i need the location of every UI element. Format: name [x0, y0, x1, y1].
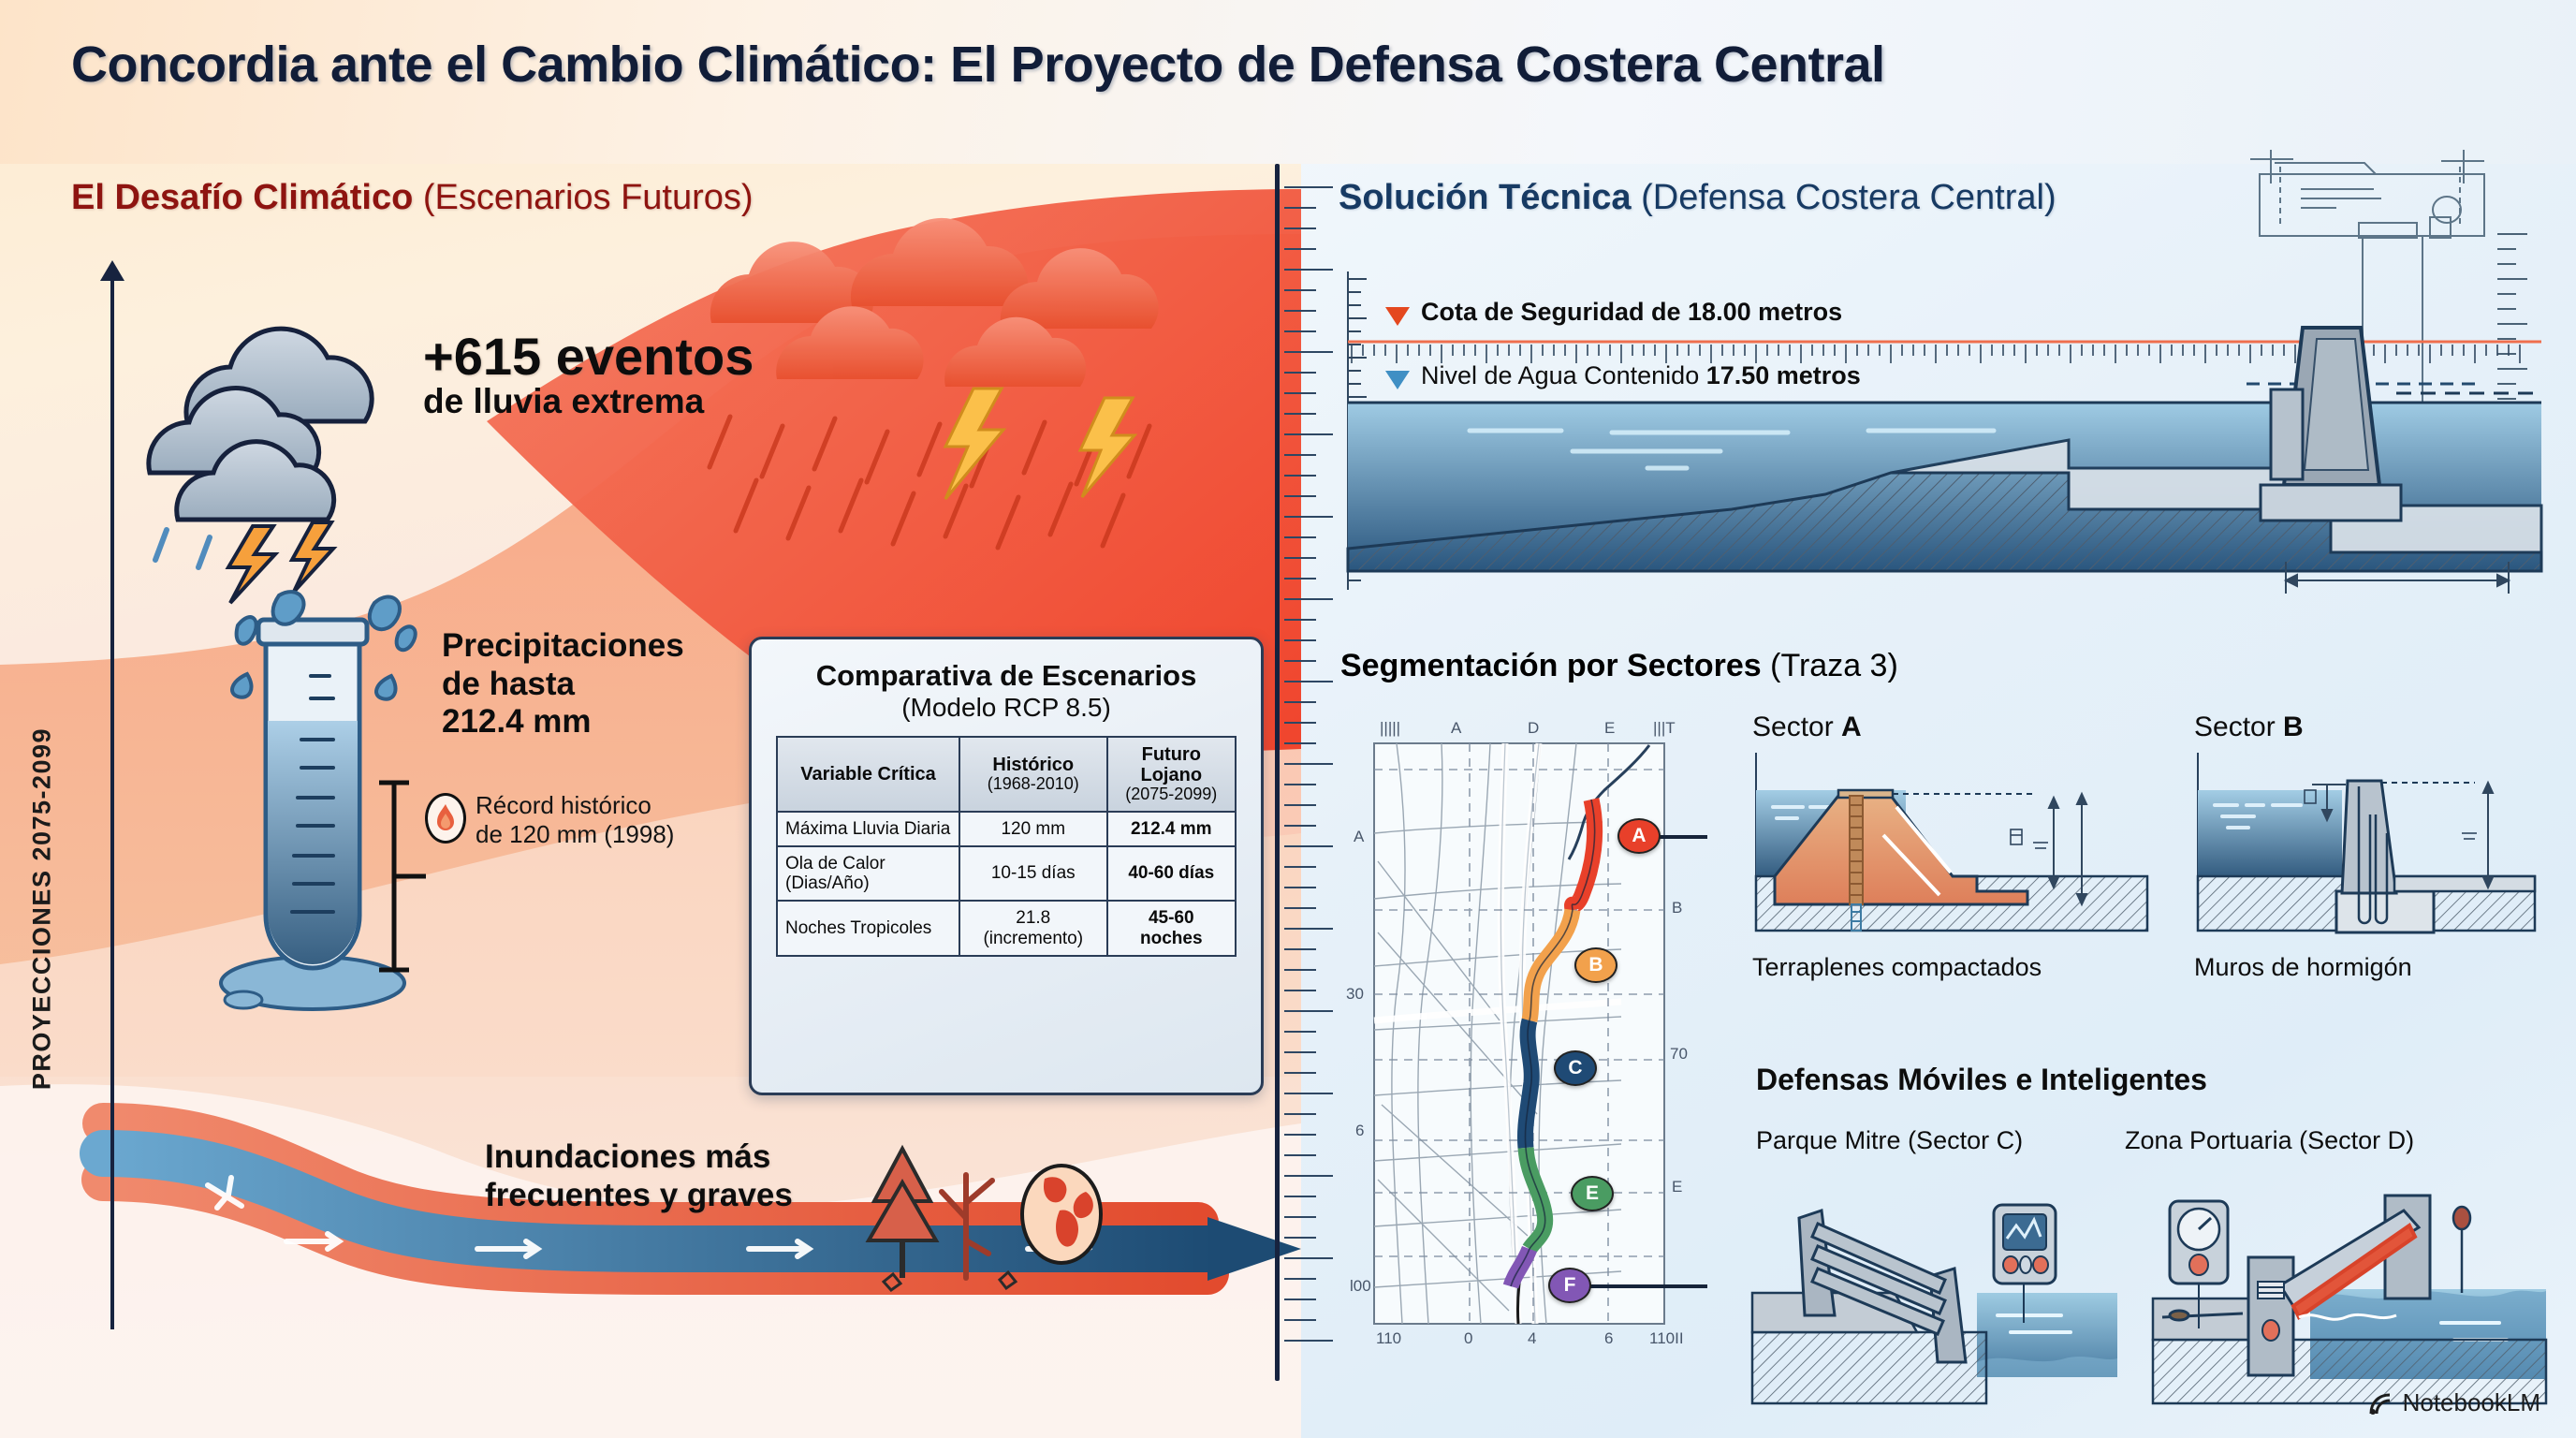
scenario-table: Variable Crítica Histórico (1968-2010) F…	[776, 736, 1237, 957]
card-title: Comparativa de Escenarios	[776, 660, 1237, 693]
sector-map-art	[1340, 712, 1698, 1357]
map-tick-right-2: E	[1672, 1178, 1682, 1196]
right-heading-normal: (Defensa Costera Central)	[1641, 178, 2056, 217]
panel-divider	[1275, 164, 1280, 1381]
col-header-futuro-main: Futuro Lojano	[1141, 744, 1203, 785]
cota-marker-icon	[1385, 307, 1410, 326]
map-tick-bottom-4: 110II	[1649, 1329, 1684, 1348]
col-header-variable: Variable Crítica	[777, 737, 959, 812]
sector-b-caption: Muros de hormigón	[2194, 953, 2539, 982]
sector-marker-b[interactable]: B	[1574, 947, 1617, 983]
map-tick-left-0: A	[1354, 828, 1364, 846]
projection-axis-line	[110, 271, 114, 1329]
notebooklm-icon	[2367, 1391, 2393, 1416]
segmentation-heading-bold: Segmentación por Sectores	[1340, 648, 1762, 683]
right-section-heading: Solución Técnica (Defensa Costera Centra…	[1339, 178, 2056, 218]
map-tick-right-1: 70	[1670, 1045, 1688, 1064]
flame-icon	[425, 793, 466, 844]
map-tick-bottom-3: 6	[1604, 1329, 1613, 1348]
nivel-label-value: 17.50 metros	[1706, 361, 1861, 389]
measurement-bracket	[370, 777, 426, 983]
sector-b-title: Sector B	[2194, 712, 2539, 743]
sector-marker-e[interactable]: E	[1571, 1176, 1614, 1211]
map-tick-right-0: B	[1672, 899, 1682, 917]
sector-a-title-letter: A	[1841, 712, 1862, 742]
map-tick-bottom-1: 0	[1464, 1329, 1472, 1348]
projection-axis-arrow	[100, 260, 124, 281]
map-tick-bottom-2: 4	[1528, 1329, 1536, 1348]
map-tick-top-3: E	[1604, 719, 1615, 738]
left-section-heading: El Desafío Climático (Escenarios Futuros…	[71, 178, 754, 218]
mobile-defense-c-art	[1752, 1175, 2117, 1404]
cell-historico: 120 mm	[959, 812, 1107, 846]
sector-b-cross-section	[2194, 753, 2539, 947]
mobile-defenses-heading: Defensas Móviles e Inteligentes	[1756, 1063, 2207, 1097]
col-header-historico-main: Histórico	[992, 755, 1074, 775]
cell-historico: 21.8 (incremento)	[959, 901, 1107, 956]
cell-futuro: 40-60 días	[1107, 846, 1236, 902]
sector-map[interactable]: ||||| A D E |||T A 30 6 l00 B 70 E 110 0…	[1340, 712, 1698, 1357]
map-tick-bottom-0: 110	[1376, 1329, 1401, 1348]
infographic-page: Concordia ante el Cambio Climático: El P…	[0, 0, 2576, 1438]
watermark: NotebookLM	[2367, 1388, 2540, 1417]
flooding-stat: Inundaciones más frecuentes y graves	[485, 1137, 972, 1215]
cell-futuro: 212.4 mm	[1107, 812, 1236, 846]
cell-variable: Máxima Lluvia Diaria	[777, 812, 959, 846]
sector-a-cross-section	[1752, 753, 2151, 947]
nivel-label: Nivel de Agua Contenido 17.50 metros	[1421, 361, 1861, 390]
card-subtitle: (Modelo RCP 8.5)	[776, 693, 1237, 723]
mobile-defense-d-caption: Zona Portuaria (Sector D)	[2125, 1126, 2414, 1155]
flood-river-art	[103, 1067, 1310, 1386]
cell-futuro: 45-60 noches	[1107, 901, 1236, 956]
mobile-defense-c-caption: Parque Mitre (Sector C)	[1756, 1126, 2023, 1155]
table-row: Ola de Calor (Dias/Año) 10-15 días 40-60…	[777, 846, 1236, 902]
map-tick-top-0: |||||	[1380, 719, 1400, 738]
flooding-line1: Inundaciones más	[485, 1137, 972, 1176]
projection-axis-label: PROYECCIONES 2075-2099	[28, 506, 57, 1312]
sector-a-title: Sector A	[1752, 712, 2151, 743]
page-title: Concordia ante el Cambio Climático: El P…	[71, 36, 2524, 94]
mobile-defense-d-art	[2153, 1175, 2546, 1404]
sector-a-detail: Sector A	[1752, 712, 2151, 982]
map-tick-top-1: A	[1451, 719, 1461, 738]
sector-marker-f[interactable]: F	[1548, 1268, 1591, 1303]
map-tick-left-1: 30	[1346, 985, 1364, 1004]
map-tick-left-3: l00	[1350, 1277, 1371, 1296]
table-header-row: Variable Crítica Histórico (1968-2010) F…	[777, 737, 1236, 812]
col-header-historico-years: (1968-2010)	[968, 775, 1099, 794]
col-header-futuro: Futuro Lojano (2075-2099)	[1107, 737, 1236, 812]
cell-variable: Noches Tropicoles	[777, 901, 959, 956]
table-row: Máxima Lluvia Diaria 120 mm 212.4 mm	[777, 812, 1236, 846]
segmentation-heading-normal: (Traza 3)	[1770, 648, 1898, 683]
map-tick-top-2: D	[1528, 719, 1539, 738]
left-heading-bold: El Desafío Climático	[71, 178, 413, 217]
col-header-historico: Histórico (1968-2010)	[959, 737, 1107, 812]
scenario-comparison-card: Comparativa de Escenarios (Modelo RCP 8.…	[749, 637, 1264, 1095]
cota-label: Cota de Seguridad de 18.00 metros	[1421, 298, 1842, 327]
left-heading-normal: (Escenarios Futuros)	[423, 178, 754, 217]
segmentation-heading: Segmentación por Sectores (Traza 3)	[1340, 648, 1898, 684]
storm-cloud-icon	[112, 309, 412, 571]
water-level-diagram: Cota de Seguridad de 18.00 metros Nivel …	[1339, 271, 2541, 599]
nivel-label-pre: Nivel de Agua Contenido	[1421, 361, 1706, 389]
col-header-futuro-years: (2075-2099)	[1116, 785, 1227, 804]
cell-historico: 10-15 días	[959, 846, 1107, 902]
extreme-events-stat: +615 eventos de lluvia extrema	[423, 330, 910, 421]
nivel-marker-icon	[1385, 371, 1410, 389]
sector-marker-c[interactable]: C	[1554, 1050, 1597, 1086]
sector-marker-a[interactable]: A	[1617, 818, 1661, 854]
sector-a-caption: Terraplenes compactados	[1752, 953, 2151, 982]
extreme-events-value: +615 eventos	[423, 330, 910, 383]
sector-b-title-pre: Sector	[2194, 712, 2283, 742]
map-tick-top-4: |||T	[1653, 719, 1676, 738]
watermark-label: NotebookLM	[2403, 1388, 2540, 1417]
sector-a-title-pre: Sector	[1752, 712, 1841, 742]
col-header-variable-main: Variable Crítica	[800, 764, 936, 785]
flooding-line2: frecuentes y graves	[485, 1176, 972, 1214]
sector-b-title-letter: B	[2283, 712, 2304, 742]
right-heading-bold: Solución Técnica	[1339, 178, 1632, 217]
cell-variable: Ola de Calor (Dias/Año)	[777, 846, 959, 902]
map-tick-left-2: 6	[1355, 1122, 1364, 1140]
sector-b-detail: Sector B	[2194, 712, 2539, 982]
table-row: Noches Tropicoles 21.8 (incremento) 45-6…	[777, 901, 1236, 956]
extreme-events-caption: de lluvia extrema	[423, 383, 910, 421]
